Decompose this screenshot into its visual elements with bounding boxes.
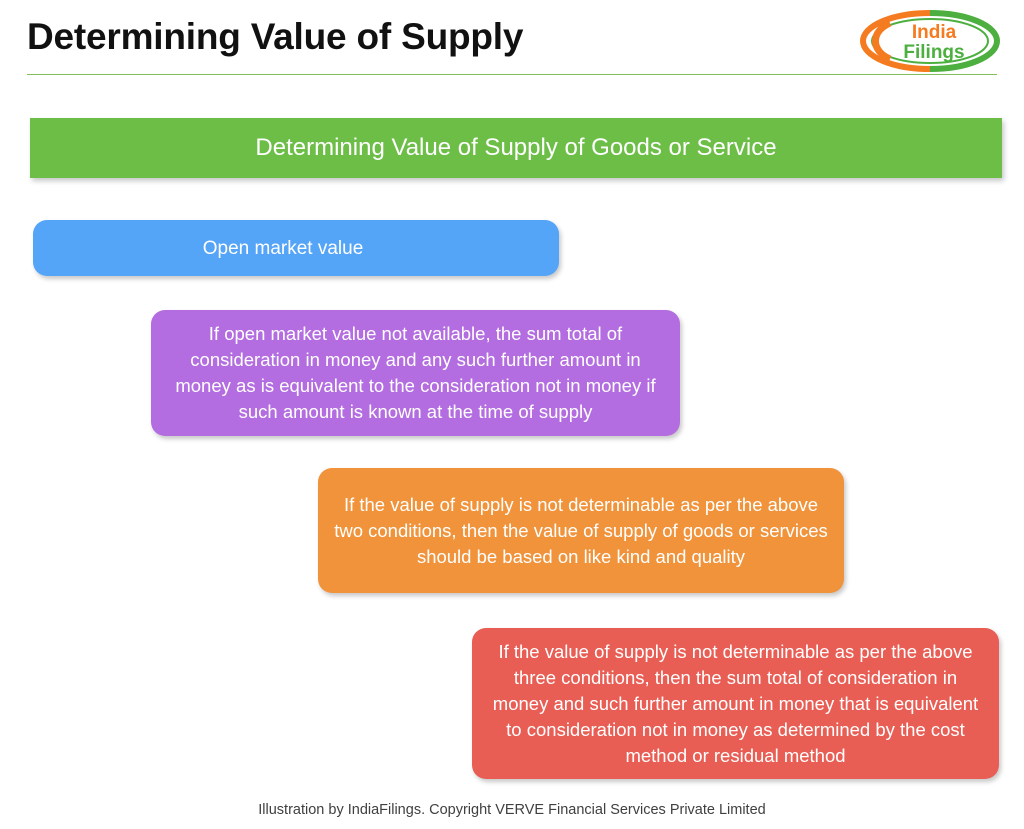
header-divider [27, 74, 997, 75]
step-cost-or-residual-method-label: If the value of supply is not determinab… [486, 639, 985, 769]
page-title: Determining Value of Supply [27, 16, 523, 58]
banner-label: Determining Value of Supply of Goods or … [44, 133, 988, 163]
logo-text-filings: Filings [903, 42, 964, 63]
step-sum-total-consideration: If open market value not available, the … [151, 310, 680, 436]
step-cost-or-residual-method: If the value of supply is not determinab… [472, 628, 999, 779]
step-open-market-value-label: Open market value [47, 236, 545, 261]
step-open-market-value: Open market value [33, 220, 559, 276]
slide-header: Determining Value of Supply India Filing… [0, 0, 1024, 80]
step-like-kind-and-quality-label: If the value of supply is not determinab… [332, 492, 830, 570]
logo-crescent [875, 23, 890, 59]
banner-determining-value-of-supply: Determining Value of Supply of Goods or … [30, 118, 1002, 178]
slide: Determining Value of Supply India Filing… [0, 0, 1024, 829]
step-like-kind-and-quality: If the value of supply is not determinab… [318, 468, 844, 593]
indiafilings-logo[interactable]: India Filings [860, 10, 1000, 72]
footer-credit: Illustration by IndiaFilings. Copyright … [0, 802, 1024, 818]
step-sum-total-consideration-label: If open market value not available, the … [165, 321, 666, 425]
logo-text-india: India [912, 22, 957, 43]
